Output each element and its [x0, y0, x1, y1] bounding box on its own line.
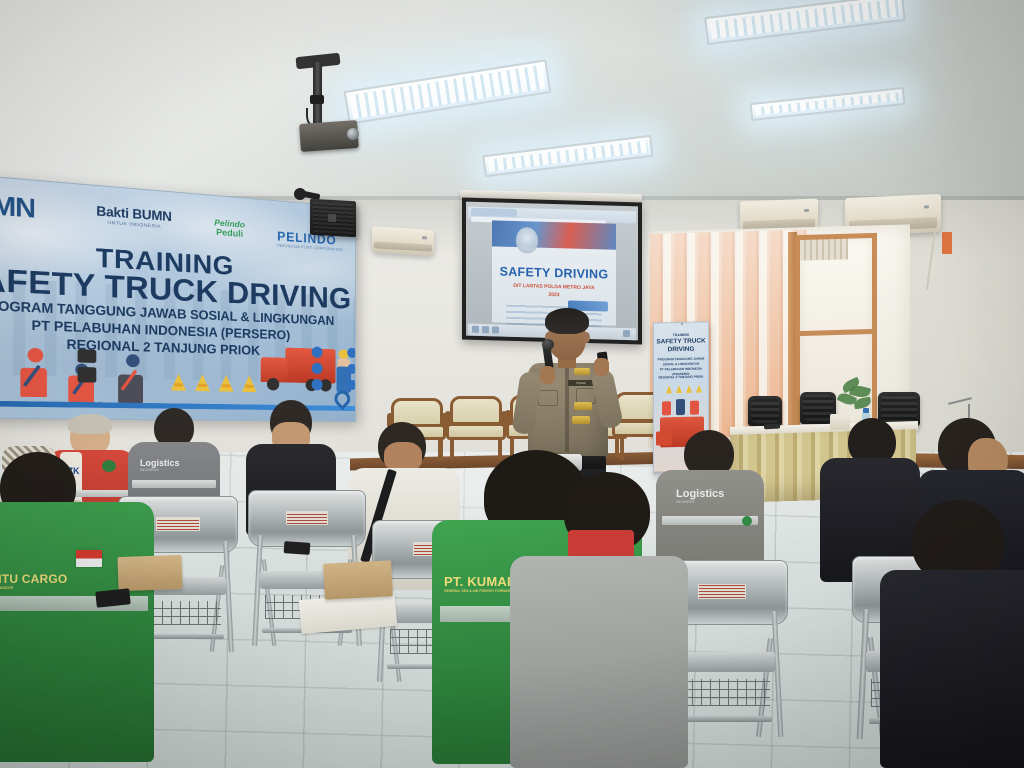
- presenter-right-hand: [594, 358, 609, 376]
- rollup-sub-3: REGIONAL 2 TANJUNG PRIOK: [654, 374, 708, 380]
- presenter-shirt-placket: [565, 366, 569, 452]
- banner-cone-1: [171, 374, 186, 391]
- projector-lens-icon: [347, 128, 359, 140]
- attendee-black-shirt-front-right: [880, 540, 1024, 768]
- banner-cone-3: [219, 375, 234, 392]
- carton-box-2: [117, 555, 182, 591]
- banner-cone-2: [195, 374, 210, 391]
- bumn-logo-text: BUMN: [0, 190, 35, 223]
- attendee-kumaitu-label-left: PT. KUMAITU CARGO GENERAL SEA & AIR FREI…: [0, 572, 67, 590]
- banner-safety-icon-1: [312, 346, 323, 358]
- indonesia-flag-patch-left: [76, 550, 102, 567]
- rollup-figure-2: [676, 399, 685, 415]
- presenter-wing-badge: [574, 402, 592, 410]
- banner-seatbelt-figure-1: [0, 355, 13, 401]
- banner-cone-4: [242, 375, 257, 392]
- presenter-left-hand: [540, 366, 555, 384]
- microphone-head-icon: [542, 339, 554, 350]
- wall-speaker: [310, 199, 356, 237]
- presenter-unit-badge: [572, 416, 590, 424]
- slide-header-band: [492, 220, 616, 249]
- table-mobile-phone: [764, 424, 780, 430]
- attendee-green-uniform-left: PT. KUMAITU CARGO GENERAL SEA & AIR FREI…: [0, 486, 154, 768]
- banner-truck-icon: [261, 347, 336, 398]
- slide-title: SAFETY DRIVING: [492, 264, 616, 281]
- presenter-rank-badge: [574, 368, 590, 375]
- attendee-logistics-label-row2: Logistics INDONESIA: [140, 458, 180, 472]
- rollup-figure-3: [690, 401, 699, 415]
- attendee-phone-2: [284, 541, 311, 555]
- rollup-cone-2: [676, 385, 682, 393]
- pelindo-peduli-line2: Peduli: [214, 228, 245, 239]
- seminar-room-photo: BUMN UNTUK INDONESIA Bakti BUMN UNTUK IN…: [0, 0, 1024, 768]
- presenter-pocket-left: [538, 390, 558, 406]
- banner-seatbelt-figure-2: [15, 345, 58, 402]
- carton-box-1: [323, 560, 393, 600]
- presenter-nametag: POLRI: [568, 380, 594, 386]
- office-chair-1[interactable]: [748, 396, 782, 426]
- rollup-figure-1: [662, 401, 671, 415]
- presenter-ear-right: [583, 332, 590, 343]
- banner-safety-icon-3: [312, 379, 323, 390]
- banner-tire-1: [78, 349, 97, 363]
- police-emblem-icon: [516, 227, 538, 254]
- banner-safety-icon-5: [347, 364, 356, 374]
- rollup-cone-3: [686, 385, 692, 393]
- main-backdrop-banner: BUMN UNTUK INDONESIA Bakti BUMN UNTUK IN…: [0, 172, 356, 422]
- tissue-box: [830, 414, 850, 430]
- banner-safety-icon-2: [312, 363, 323, 374]
- rollup-title-2: DRIVING: [654, 346, 708, 354]
- banner-seatbelt-figure-4: [112, 350, 155, 405]
- bumn-logo: BUMN UNTUK INDONESIA: [0, 190, 35, 241]
- rollup-cone-4: [696, 385, 702, 393]
- ac-warning-tag: [942, 232, 952, 254]
- banner-safety-icon-4: [347, 348, 356, 358]
- presenter-hair: [545, 308, 589, 334]
- rollup-pole: [681, 321, 683, 325]
- speaker-bracket-knob: [294, 188, 306, 200]
- projector-mount-collar: [310, 95, 324, 104]
- water-bottle-cap: [863, 408, 869, 413]
- pelindo-peduli-logo: Pelindo Peduli: [214, 219, 245, 239]
- air-conditioner-1: [372, 226, 434, 256]
- rollup-sub-1: PROGRAM TANGGUNG JAWAB SOSIAL & LINGKUNG…: [654, 356, 708, 366]
- slide-subtitle-2: 2023: [492, 290, 616, 299]
- attendee-grey-shirt-front-right: [510, 500, 688, 768]
- banner-tire-2: [78, 367, 97, 383]
- banner-safety-icon-6: [347, 380, 356, 390]
- rollup-cone-1: [666, 385, 672, 393]
